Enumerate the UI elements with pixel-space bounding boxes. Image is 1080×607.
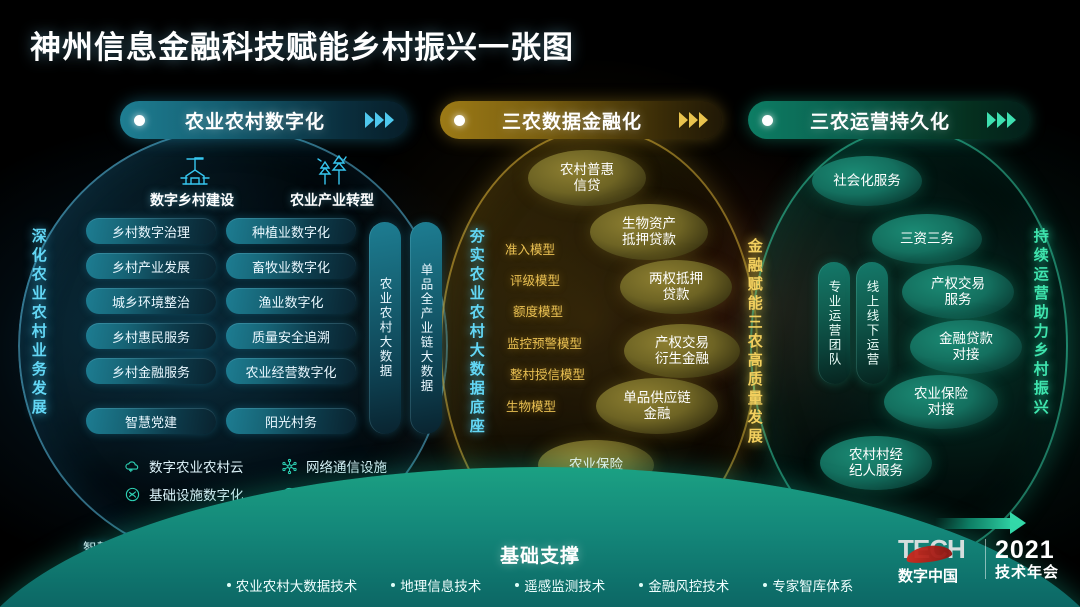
list-item[interactable]: 乡村惠民服务 bbox=[86, 323, 216, 349]
operation-node[interactable]: 社会化服务 bbox=[812, 156, 922, 206]
chevron-right-icon bbox=[365, 112, 394, 128]
data-pillar[interactable]: 单品全产业链大数据 bbox=[410, 222, 442, 434]
logo-cn-label: 数字中国 bbox=[898, 565, 958, 586]
list-item[interactable]: 城乡环境整治 bbox=[86, 288, 216, 314]
infographic-canvas: 神州信息金融科技赋能乡村振兴一张图 农业农村数字化 三农数据金融化 三农运营持久… bbox=[0, 0, 1080, 607]
infra-item[interactable]: 网络通信设施 bbox=[281, 456, 387, 476]
logo-meeting: 技术年会 bbox=[995, 565, 1059, 580]
foundation-item-label: 遥感监测技术 bbox=[524, 575, 605, 595]
foundation-item: 地理信息技术 bbox=[391, 575, 481, 595]
bullet-dot-icon bbox=[134, 115, 145, 126]
foundation-item: 专家智库体系 bbox=[763, 575, 853, 595]
foundation-item-label: 地理信息技术 bbox=[400, 575, 481, 595]
operation-pillar[interactable]: 专业运营团队 bbox=[818, 262, 850, 384]
model-label: 准入模型 bbox=[505, 239, 555, 258]
village-icon bbox=[173, 150, 217, 190]
list-item[interactable]: 畜牧业数字化 bbox=[226, 253, 356, 279]
digital-infra-icon bbox=[124, 486, 141, 503]
forest-icon bbox=[310, 150, 354, 190]
subsection-title-village: 数字乡村建设 bbox=[150, 190, 234, 210]
tech-mark-icon: TECH 数字中国 bbox=[898, 532, 976, 586]
list-item[interactable]: 农业经营数字化 bbox=[226, 358, 356, 384]
side-label-right: 持续运营助力乡村振兴 bbox=[1032, 228, 1048, 418]
finance-node[interactable]: 农村普惠 信贷 bbox=[528, 150, 646, 206]
list-item[interactable]: 乡村产业发展 bbox=[86, 253, 216, 279]
operation-node[interactable]: 农村村经 纪人服务 bbox=[820, 436, 932, 490]
subsection-title-industry: 农业产业转型 bbox=[290, 190, 374, 210]
list-item-extra[interactable]: 阳光村务 bbox=[226, 408, 356, 434]
list-item[interactable]: 种植业数字化 bbox=[226, 218, 356, 244]
bullet-dot-icon bbox=[762, 115, 773, 126]
foundation-item: 金融风控技术 bbox=[639, 575, 729, 595]
section-header-agriculture-digital[interactable]: 农业农村数字化 bbox=[120, 101, 408, 139]
network-icon bbox=[281, 458, 298, 475]
model-label: 整村授信模型 bbox=[510, 364, 585, 383]
finance-node[interactable]: 产权交易 衍生金融 bbox=[624, 324, 740, 378]
operation-node[interactable]: 三资三务 bbox=[872, 214, 982, 264]
infra-label: 网络通信设施 bbox=[306, 456, 387, 476]
list-item-extra[interactable]: 智慧党建 bbox=[86, 408, 216, 434]
chevron-right-icon bbox=[679, 112, 708, 128]
list-item[interactable]: 渔业数字化 bbox=[226, 288, 356, 314]
side-label-finance-value: 金融赋能三农高质量发展 bbox=[746, 238, 762, 447]
foundation-item-label: 专家智库体系 bbox=[772, 575, 853, 595]
section-header-data-finance[interactable]: 三农数据金融化 bbox=[440, 101, 722, 139]
side-label-data-base: 夯实农业农村大数据底座 bbox=[468, 228, 484, 437]
model-label: 生物模型 bbox=[506, 396, 556, 415]
chevron-right-icon bbox=[987, 112, 1016, 128]
foundation-item-label: 农业农村大数据技术 bbox=[236, 575, 358, 595]
section-header-operations[interactable]: 三农运营持久化 bbox=[748, 101, 1030, 139]
operation-node[interactable]: 农业保险 对接 bbox=[884, 375, 998, 429]
list-item[interactable]: 乡村数字治理 bbox=[86, 218, 216, 244]
operation-pillar[interactable]: 线上线下运营 bbox=[856, 262, 888, 384]
section-header-label: 三农运营持久化 bbox=[773, 107, 987, 134]
bullet-dot-icon bbox=[454, 115, 465, 126]
side-label-left: 深化农业农村业务发展 bbox=[30, 228, 46, 418]
logo-divider bbox=[985, 539, 986, 579]
data-pillar[interactable]: 农业农村大数据 bbox=[369, 222, 401, 434]
infra-label: 数字农业农村云 bbox=[149, 456, 244, 476]
event-logo: TECH 数字中国 2021 技术年会 bbox=[898, 530, 1068, 588]
finance-node[interactable]: 两权抵押 贷款 bbox=[620, 260, 732, 314]
finance-node[interactable]: 生物资产 抵押贷款 bbox=[590, 204, 708, 260]
foundation-item: 遥感监测技术 bbox=[515, 575, 605, 595]
foundation-item-label: 金融风控技术 bbox=[648, 575, 729, 595]
operation-node[interactable]: 金融贷款 对接 bbox=[910, 320, 1022, 374]
cloud-icon bbox=[124, 458, 141, 475]
operation-node[interactable]: 产权交易 服务 bbox=[902, 265, 1014, 319]
finance-node[interactable]: 单品供应链 金融 bbox=[596, 378, 718, 434]
foundation-item: 农业农村大数据技术 bbox=[227, 575, 358, 595]
model-label: 评级模型 bbox=[510, 270, 560, 289]
model-label: 监控预警模型 bbox=[507, 333, 582, 352]
model-label: 额度模型 bbox=[513, 301, 563, 320]
section-header-label: 三农数据金融化 bbox=[465, 107, 679, 134]
page-title: 神州信息金融科技赋能乡村振兴一张图 bbox=[30, 22, 574, 67]
list-item[interactable]: 质量安全追溯 bbox=[226, 323, 356, 349]
section-header-label: 农业农村数字化 bbox=[145, 107, 365, 134]
list-item[interactable]: 乡村金融服务 bbox=[86, 358, 216, 384]
infra-item[interactable]: 数字农业农村云 bbox=[124, 456, 244, 476]
logo-year: 2021 bbox=[995, 538, 1059, 563]
logo-right-block: 2021 技术年会 bbox=[995, 538, 1059, 580]
